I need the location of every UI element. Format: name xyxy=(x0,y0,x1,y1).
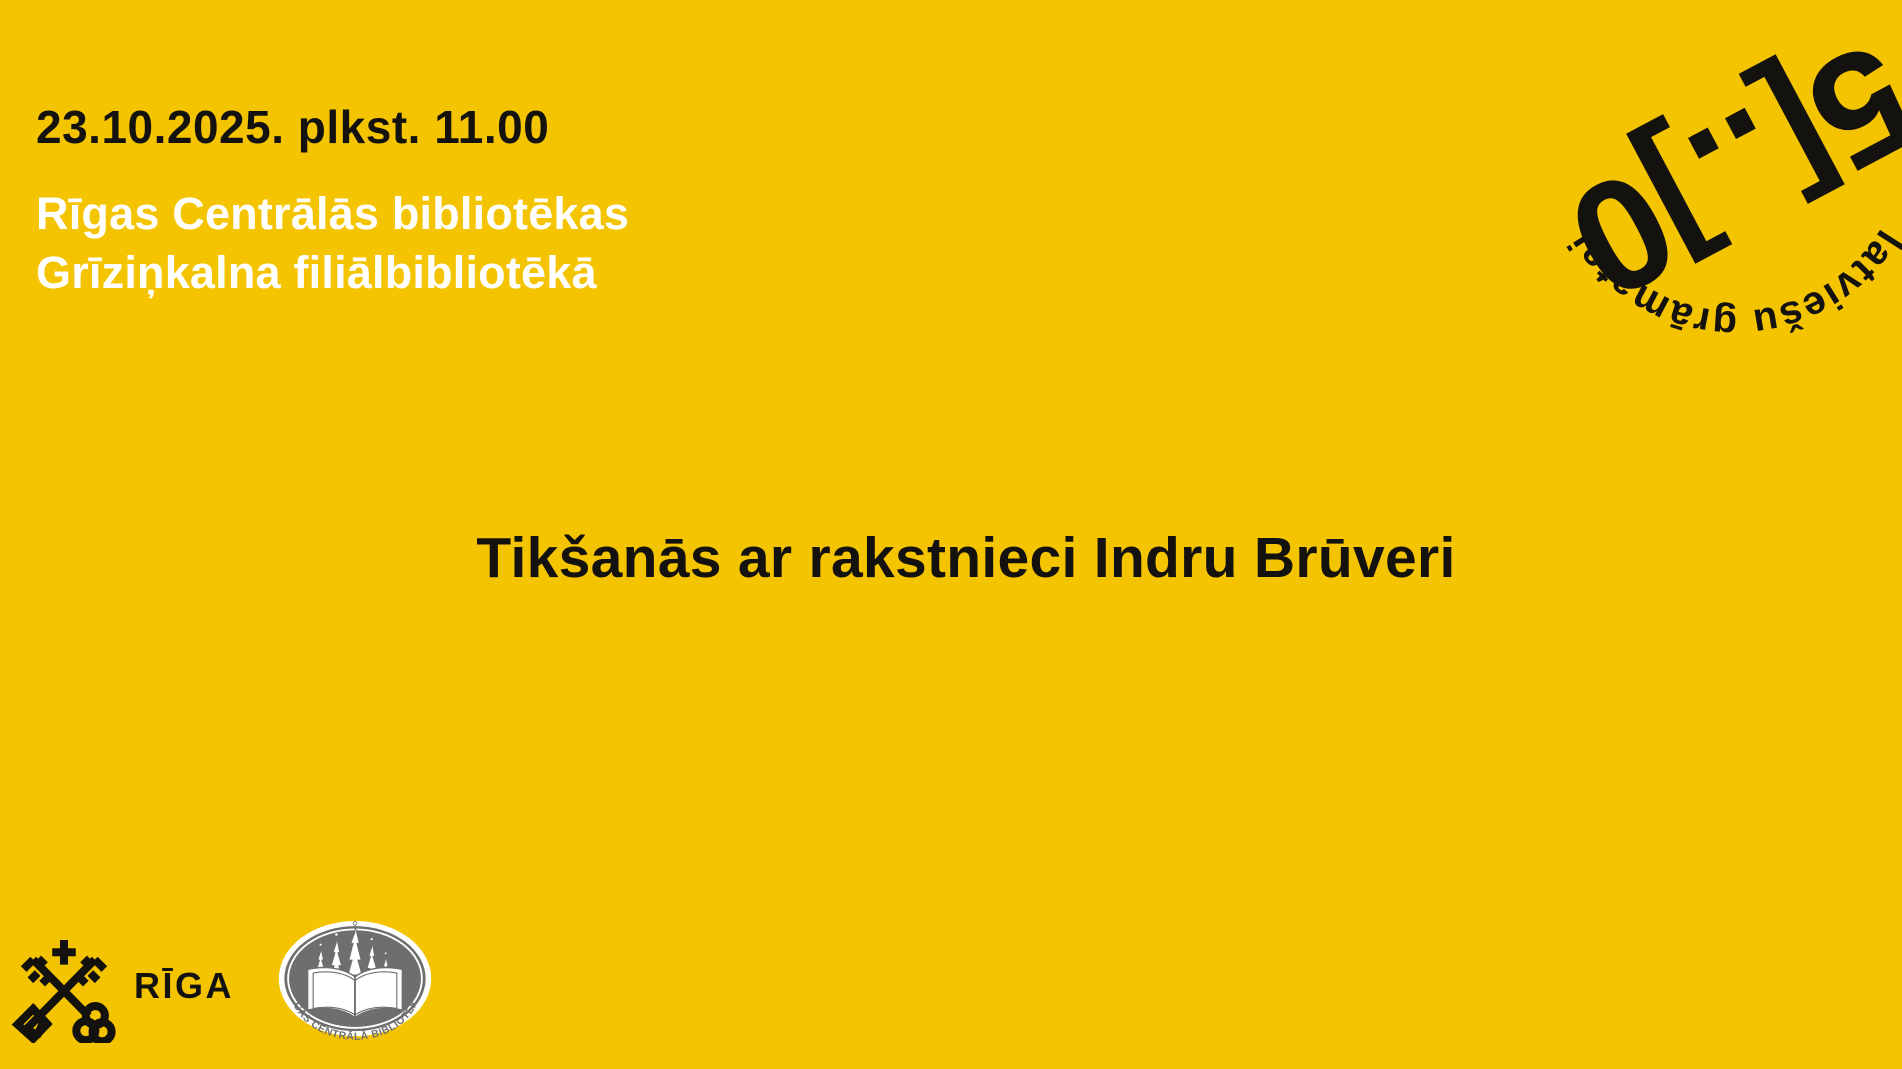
jubilee-logo-svg: 5[..]0 latviešu grāmatai xyxy=(1520,0,1902,356)
riga-wordmark: RĪGA xyxy=(134,968,234,1006)
rigas-centrala-biblioteka-logo: RĪGAS CENTRĀLĀ BIBLIOTĒKA xyxy=(276,917,434,1057)
riga-city-logo: RĪGA xyxy=(8,931,234,1043)
event-title: Tikšanās ar rakstnieci Indru Brūveri xyxy=(0,527,1902,590)
jubilee-logo-500-latviesu-gramatai: 5[..]0 latviešu grāmatai xyxy=(1520,0,1902,356)
header-block: 23.10.2025. plkst. 11.00 Rīgas Centrālās… xyxy=(36,104,1136,303)
event-date-time: 23.10.2025. plkst. 11.00 xyxy=(36,104,1136,150)
poster-canvas: 23.10.2025. plkst. 11.00 Rīgas Centrālās… xyxy=(0,0,1902,1069)
venue-line-1: Rīgas Centrālās bibliotēkas xyxy=(36,184,1136,243)
venue-block: Rīgas Centrālās bibliotēkas Grīziņkalna … xyxy=(36,184,1136,303)
crossed-keys-icon xyxy=(8,931,120,1043)
venue-line-2: Grīziņkalna filiālbibliotēkā xyxy=(36,243,1136,302)
footer-logo-row: RĪGA xyxy=(8,917,434,1057)
